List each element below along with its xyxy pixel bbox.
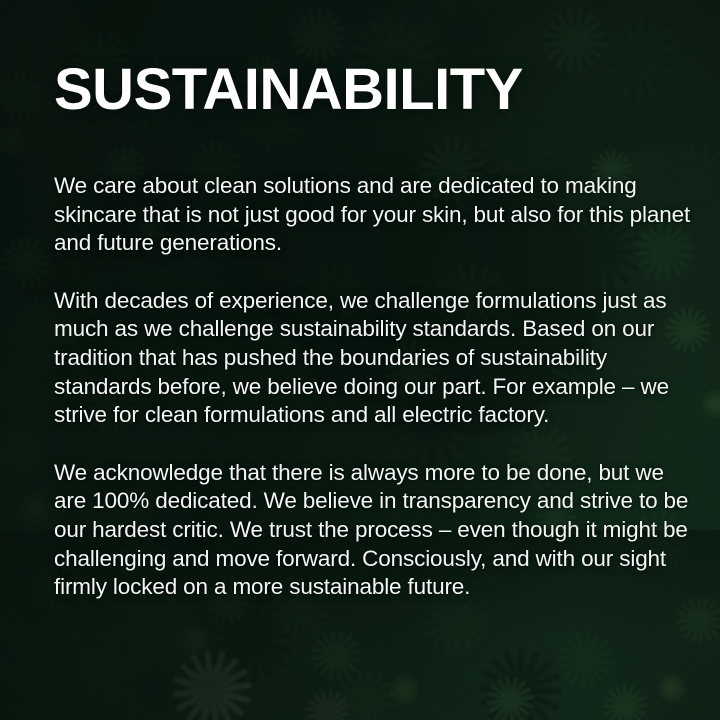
paragraph-3: We acknowledge that there is always more… [54, 459, 694, 602]
poster-content: SUSTAINABILITY We care about clean solut… [0, 0, 720, 720]
body-copy: We care about clean solutions and are de… [54, 172, 694, 602]
paragraph-2: With decades of experience, we challenge… [54, 287, 694, 430]
paragraph-1: We care about clean solutions and are de… [54, 172, 694, 258]
sustainability-poster: SUSTAINABILITY We care about clean solut… [0, 0, 720, 720]
page-title: SUSTAINABILITY [54, 60, 523, 120]
